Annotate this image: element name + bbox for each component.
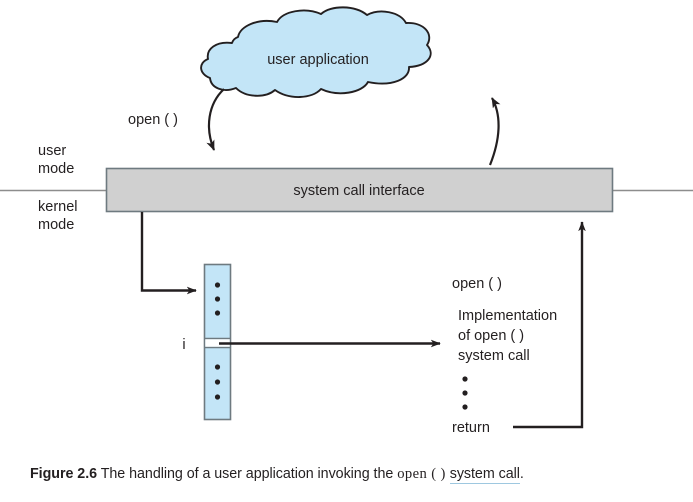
figure-caption-text: The handling of a user application invok… (101, 466, 394, 482)
cloud-label: user application (267, 52, 369, 68)
figure-caption-mono: open ( ) (397, 466, 446, 482)
interface-label: system call interface (293, 183, 424, 199)
figure-caption-end: . (520, 466, 524, 482)
kernel-mode-label-line1: kernel (38, 199, 78, 215)
table-index-label: i (182, 337, 185, 353)
system-call-table: i (182, 265, 230, 420)
impl-line-3: system call (458, 348, 530, 364)
figure-caption: Figure 2.6 The handling of a user applic… (30, 466, 690, 484)
system-call-diagram: user application open ( ) user mode kern… (0, 0, 693, 502)
figure-caption-link[interactable]: system call (450, 466, 520, 484)
figure-caption-label: Figure 2.6 (30, 466, 97, 482)
return-path (513, 222, 582, 427)
impl-title: open ( ) (452, 276, 502, 292)
user-mode-label-line2: mode (38, 161, 74, 177)
call-arrow (209, 89, 224, 150)
impl-line-1: Implementation (458, 308, 557, 324)
return-arrow-to-app (490, 98, 499, 165)
impl-vertical-dots (462, 376, 467, 409)
dispatch-path (142, 212, 196, 291)
figure-2-6: user application open ( ) user mode kern… (0, 0, 693, 502)
user-mode-label-line1: user (38, 143, 66, 159)
open-call-label: open ( ) (128, 112, 178, 128)
user-application-cloud: user application (201, 7, 431, 97)
impl-line-2: of open ( ) (458, 328, 524, 344)
return-label: return (452, 420, 490, 436)
system-call-interface-bar: system call interface (107, 169, 613, 212)
kernel-mode-label-line2: mode (38, 217, 74, 233)
